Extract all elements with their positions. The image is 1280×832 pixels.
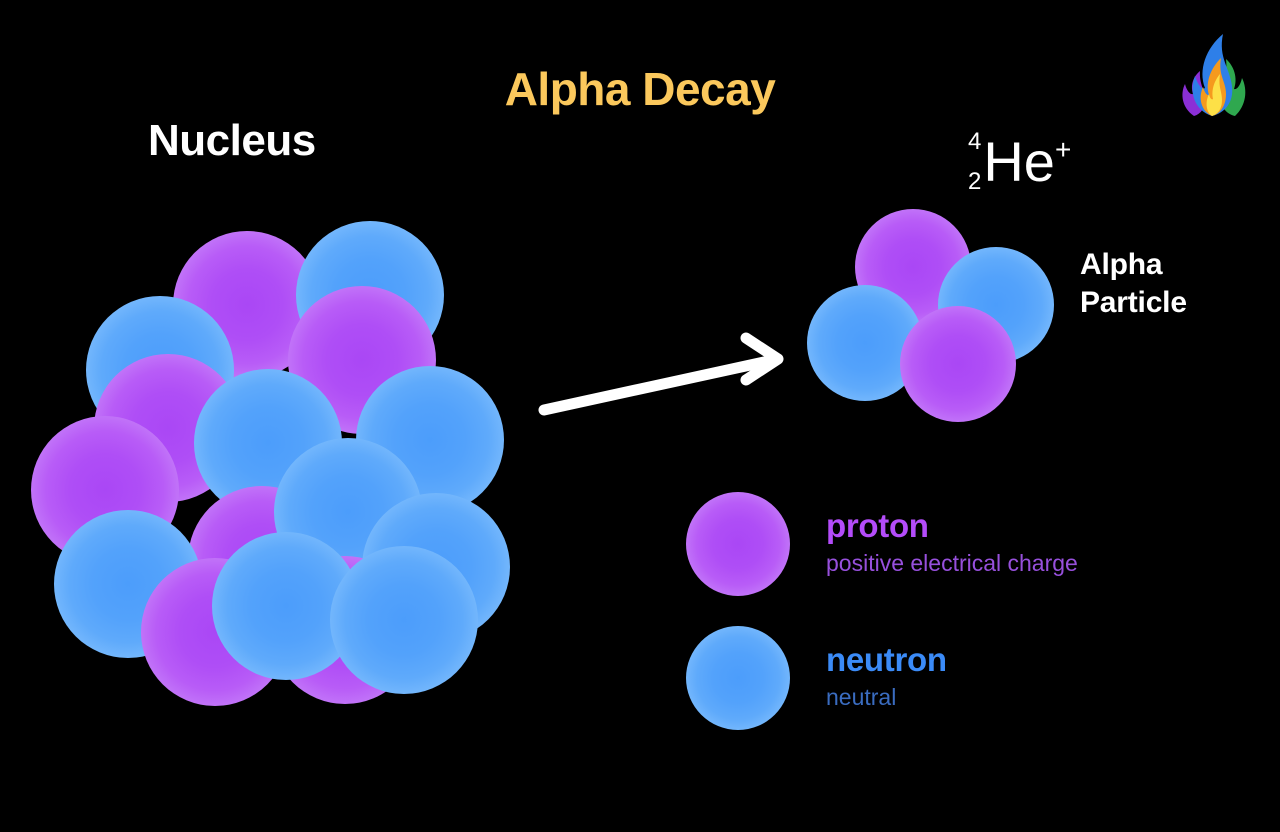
helium-notation: 4 2 He + [968,128,1071,198]
alpha-label-line-1: Alpha [1080,246,1187,284]
legend-text-proton: proton positive electrical charge [826,509,1078,579]
legend-title-neutron: neutron [826,643,947,678]
legend-title-proton: proton [826,509,1078,544]
helium-charge: + [1055,136,1071,164]
proton-swatch-icon [686,492,790,596]
alpha-decay-diagram: Alpha Decay Nucleus 4 2 He [0,0,1280,832]
alpha-particle-label: Alpha Particle [1080,246,1187,323]
alpha-proton-3 [900,306,1016,422]
legend-item-neutron: neutron neutral [686,626,1078,730]
alpha-label-line-2: Particle [1080,284,1187,322]
page-title: Alpha Decay [0,66,1280,112]
neutron-swatch-icon [686,626,790,730]
helium-symbol: He [983,134,1055,190]
particle-legend: proton positive electrical charge neutro… [686,492,1078,730]
decay-arrow [528,330,808,435]
legend-text-neutron: neutron neutral [826,643,947,713]
legend-subtitle-proton: positive electrical charge [826,548,1078,579]
legend-subtitle-neutron: neutral [826,682,947,713]
legend-item-proton: proton positive electrical charge [686,492,1078,596]
nucleus-heading: Nucleus [148,119,316,163]
nucleus-neutron-15 [330,546,478,694]
helium-mass-number: 4 [968,130,981,154]
helium-atomic-number: 2 [968,170,981,194]
flame-logo [1178,32,1250,116]
helium-numbers: 4 2 [968,128,981,194]
